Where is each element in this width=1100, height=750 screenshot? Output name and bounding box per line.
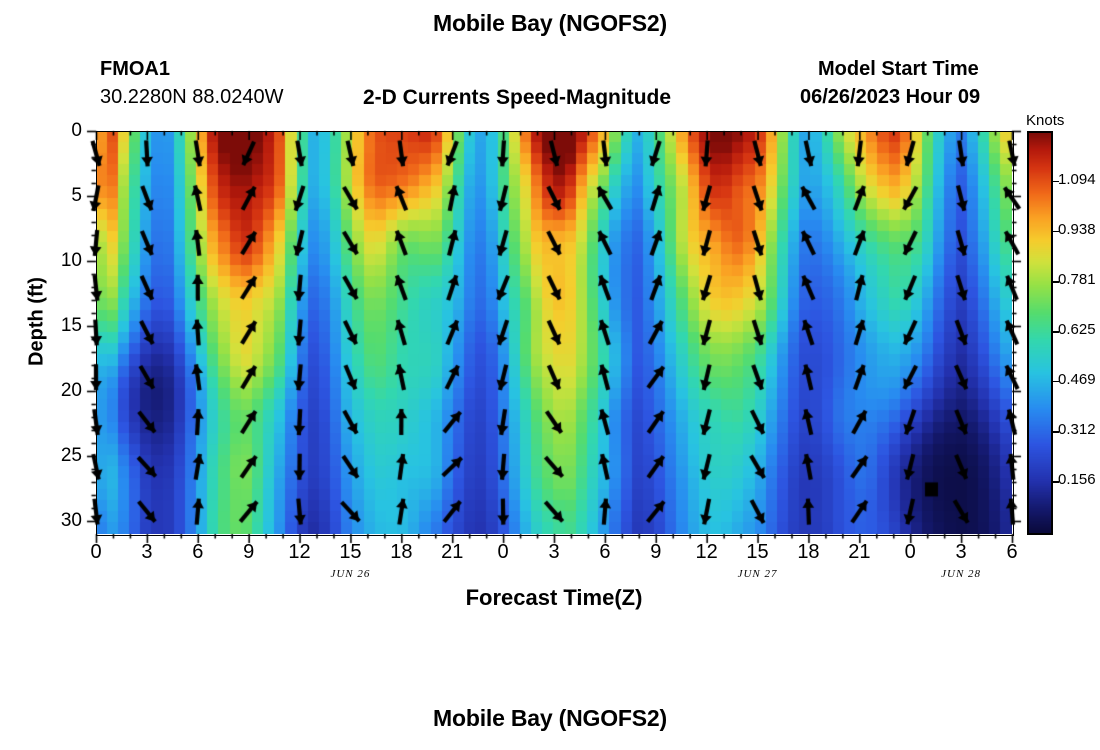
y-tick-label: 5 bbox=[42, 185, 82, 207]
day-label: JUN 28 bbox=[916, 568, 1006, 580]
x-tick-label: 15 bbox=[330, 541, 370, 564]
y-tick-label: 0 bbox=[42, 120, 82, 142]
y-tick-label: 20 bbox=[42, 380, 82, 402]
model-start-time-label: Model Start Time bbox=[818, 58, 979, 81]
page-title: Mobile Bay (NGOFS2) bbox=[0, 10, 1100, 37]
x-tick-label: 0 bbox=[483, 541, 523, 564]
day-label: JUN 26 bbox=[305, 568, 395, 580]
colorbar-tick-label: 1.094 bbox=[1058, 171, 1096, 188]
x-tick-label: 3 bbox=[534, 541, 574, 564]
y-tick-label: 15 bbox=[42, 315, 82, 337]
x-tick-label: 21 bbox=[839, 541, 879, 564]
colorbar-tick-label: 0.469 bbox=[1058, 371, 1096, 388]
colorbar-tick-label: 0.625 bbox=[1058, 321, 1096, 338]
x-tick-label: 18 bbox=[381, 541, 421, 564]
colorbar-gradient bbox=[1027, 131, 1053, 535]
x-tick-label: 6 bbox=[585, 541, 625, 564]
model-start-time-value: 06/26/2023 Hour 09 bbox=[800, 86, 980, 109]
x-tick-label: 9 bbox=[636, 541, 676, 564]
colorbar-title: Knots bbox=[1026, 112, 1064, 129]
x-tick-label: 3 bbox=[127, 541, 167, 564]
bottom-title: Mobile Bay (NGOFS2) bbox=[0, 705, 1100, 732]
x-tick-label: 12 bbox=[280, 541, 320, 564]
x-tick-label: 12 bbox=[687, 541, 727, 564]
y-tick-label: 10 bbox=[42, 250, 82, 272]
x-axis-title: Forecast Time(Z) bbox=[96, 585, 1012, 611]
colorbar-tick-label: 0.312 bbox=[1058, 421, 1096, 438]
station-coordinates: 30.2280N 88.0240W bbox=[100, 86, 283, 109]
x-tick-label: 6 bbox=[992, 541, 1032, 564]
x-tick-label: 3 bbox=[941, 541, 981, 564]
station-id: FMOA1 bbox=[100, 58, 170, 81]
x-tick-label: 15 bbox=[738, 541, 778, 564]
x-tick-label: 21 bbox=[432, 541, 472, 564]
y-tick-label: 25 bbox=[42, 445, 82, 467]
y-tick-label: 30 bbox=[42, 510, 82, 532]
x-tick-label: 0 bbox=[890, 541, 930, 564]
x-tick-label: 0 bbox=[76, 541, 116, 564]
x-tick-label: 9 bbox=[229, 541, 269, 564]
colorbar-tick-label: 0.781 bbox=[1058, 271, 1096, 288]
colorbar-tick-label: 0.156 bbox=[1058, 471, 1096, 488]
chart-subtitle: 2-D Currents Speed-Magnitude bbox=[363, 86, 671, 110]
x-tick-label: 6 bbox=[178, 541, 218, 564]
day-label: JUN 27 bbox=[713, 568, 803, 580]
colorbar-tick-label: 0.938 bbox=[1058, 221, 1096, 238]
x-tick-label: 18 bbox=[788, 541, 828, 564]
axis-tick-marks bbox=[36, 121, 1076, 581]
